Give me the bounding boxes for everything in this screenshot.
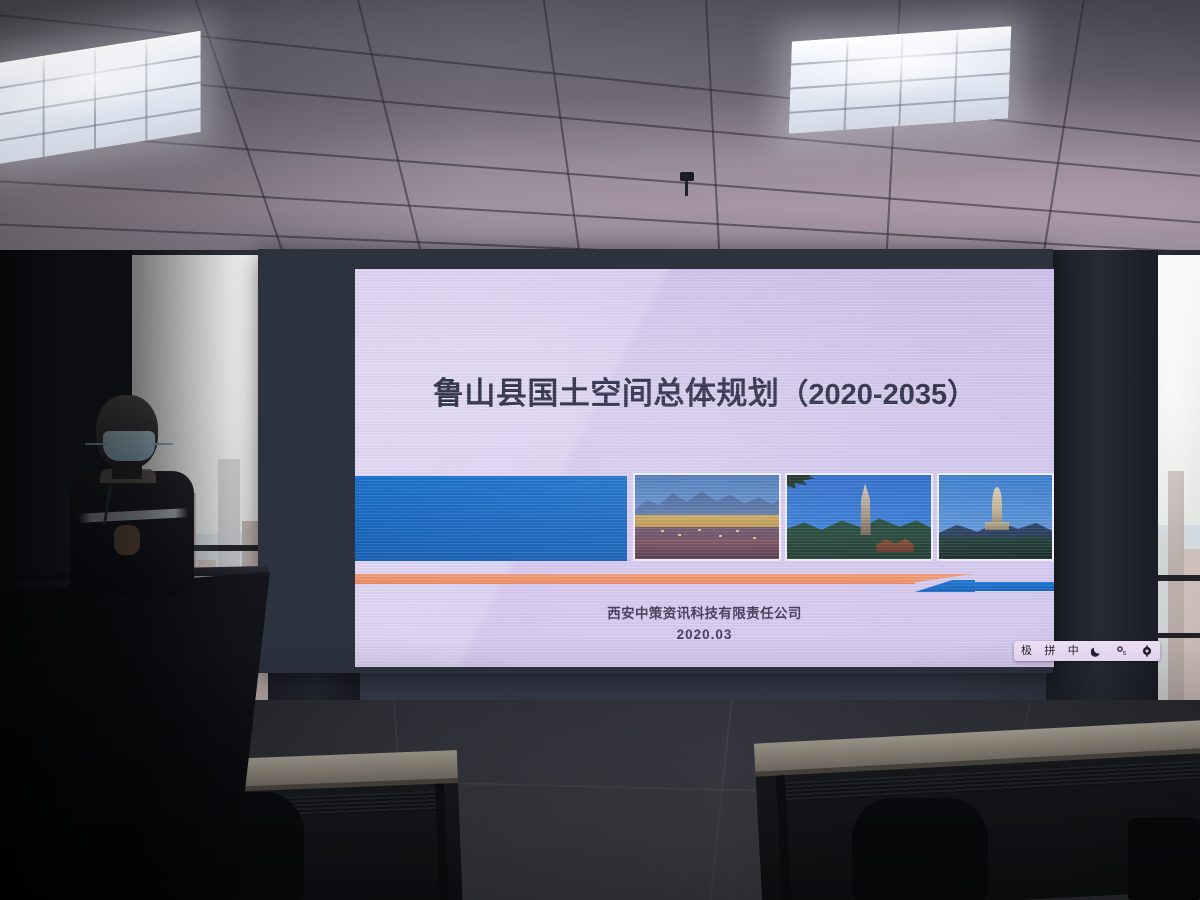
- surgical-mask: [103, 431, 155, 461]
- buddha-statue-photo: [937, 473, 1054, 561]
- light-panel-glow: [789, 26, 1012, 134]
- photo-content: [787, 475, 931, 559]
- window-mullion: [1154, 633, 1200, 638]
- window-mullion: [1154, 575, 1200, 581]
- ime-halfwidth-icon[interactable]: s: [1116, 641, 1129, 661]
- slide-orange-stripe: [355, 574, 915, 584]
- mountain-village-photo: [633, 473, 781, 561]
- suspended-grid-ceiling: [0, 0, 1200, 258]
- slide-company-name: 西安中策资讯科技有限责任公司: [355, 604, 1054, 625]
- presenter: [62, 395, 202, 595]
- slide-date: 2020.03: [355, 625, 1054, 646]
- slide-blue-block: [355, 476, 627, 561]
- ime-moon-icon[interactable]: [1091, 641, 1103, 661]
- chair: [1128, 818, 1200, 900]
- conference-room-scene: 鲁山县国土空间总体规划（2020-2035）: [0, 0, 1200, 900]
- ceiling-light-panel: [789, 26, 1012, 134]
- ime-settings-icon[interactable]: [1141, 641, 1153, 661]
- chair: [852, 798, 988, 900]
- wall-pillar-right: [1046, 250, 1158, 706]
- presenter-hand: [114, 525, 140, 555]
- sprinkler-head-icon: [680, 172, 694, 196]
- photo-content: [635, 475, 779, 559]
- photo-content: [939, 475, 1052, 559]
- svg-text:s: s: [1122, 650, 1126, 657]
- presentation-slide: 鲁山县国土空间总体规划（2020-2035）: [355, 269, 1054, 667]
- right-window: [1154, 255, 1200, 705]
- slide-blue-stripe: [953, 582, 1054, 591]
- slide-subtitle: 西安中策资讯科技有限责任公司 2020.03: [355, 604, 1054, 646]
- chinese-input-method-toolbar[interactable]: 极 拼 中 s: [1014, 641, 1160, 661]
- speaker-podium: [0, 572, 270, 900]
- ime-logo-icon[interactable]: 极: [1021, 641, 1032, 661]
- ime-chinese-mode-button[interactable]: 中: [1068, 641, 1079, 661]
- rock-peak-photo: [785, 473, 933, 561]
- ime-pinyin-mode-button[interactable]: 拼: [1044, 641, 1055, 661]
- city-skyline: [1154, 426, 1200, 705]
